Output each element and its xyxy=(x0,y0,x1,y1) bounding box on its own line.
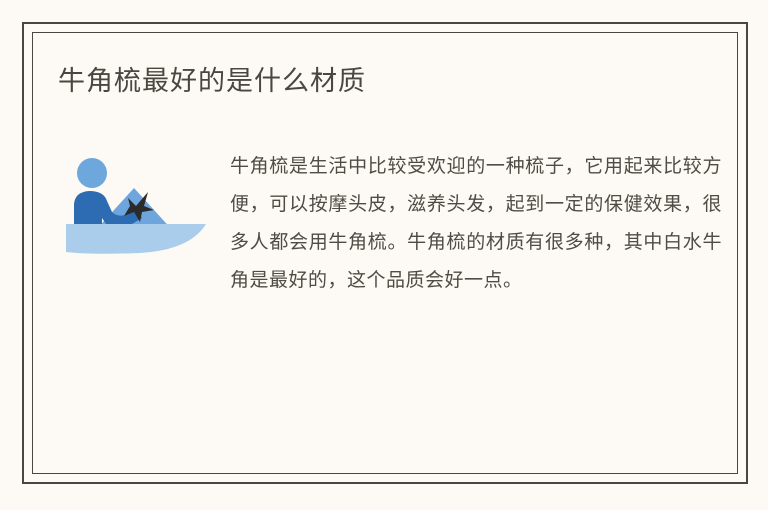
article-page: 牛角梳最好的是什么材质 牛角梳是生活中比较受欢迎的一种梳子，它用起来比较方便，可… xyxy=(0,0,768,510)
person-mountain-bird-illustration xyxy=(62,154,210,258)
article-body: 牛角梳是生活中比较受欢迎的一种梳子，它用起来比较方便，可以按摩头皮，滋养头发，起… xyxy=(62,148,722,348)
page-title: 牛角梳最好的是什么材质 xyxy=(58,63,366,99)
article-paragraph: 牛角梳是生活中比较受欢迎的一种梳子，它用起来比较方便，可以按摩头皮，滋养头发，起… xyxy=(230,148,722,300)
person-head-shape xyxy=(77,158,107,188)
water-base-shape xyxy=(66,224,206,254)
article-content: 牛角梳最好的是什么材质 牛角梳是生活中比较受欢迎的一种梳子，它用起来比较方便，可… xyxy=(0,0,768,510)
